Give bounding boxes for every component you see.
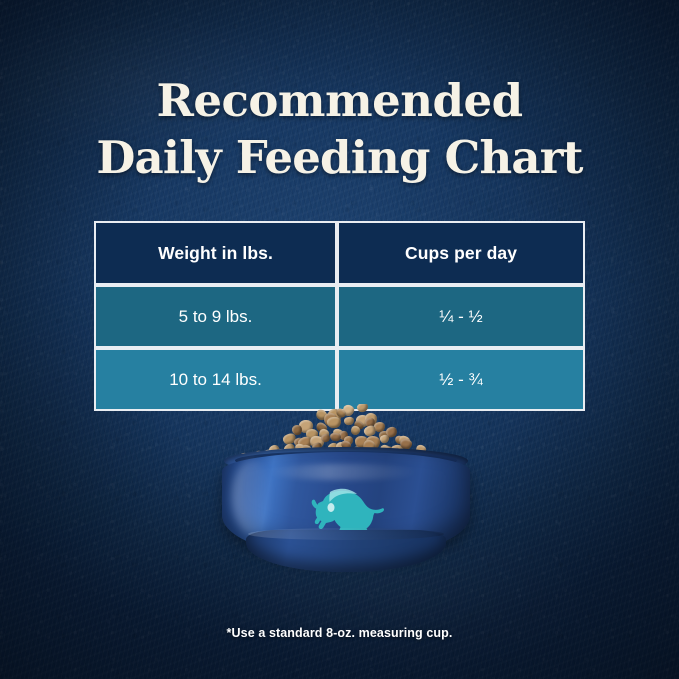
page-title-line-2: Daily Feeding Chart (0, 129, 679, 186)
column-header-weight: Weight in lbs. (94, 221, 337, 285)
kibble-piece (330, 433, 342, 443)
bowl (222, 452, 470, 572)
table-header-row: Weight in lbs. Cups per day (94, 221, 585, 285)
table-body: 5 to 9 lbs. ¼ - ½ 10 to 14 lbs. ½ - ¾ (94, 285, 585, 411)
bowl-highlight-top (268, 464, 418, 480)
feeding-chart-table: Weight in lbs. Cups per day 5 to 9 lbs. … (94, 221, 585, 411)
kibble-piece (379, 434, 390, 444)
page-title: Recommended Daily Feeding Chart (0, 72, 679, 186)
column-header-cups: Cups per day (337, 221, 585, 285)
table-row: 5 to 9 lbs. ¼ - ½ (94, 285, 585, 348)
table-row: 10 to 14 lbs. ½ - ¾ (94, 348, 585, 411)
table-header: Weight in lbs. Cups per day (94, 221, 585, 285)
cell-weight-2: 10 to 14 lbs. (94, 348, 337, 411)
footnote: *Use a standard 8-oz. measuring cup. (0, 626, 679, 640)
kibble-piece (356, 404, 369, 413)
kibble-piece (326, 417, 340, 429)
cell-cups-1: ¼ - ½ (337, 285, 585, 348)
cell-weight-1: 5 to 9 lbs. (94, 285, 337, 348)
page-title-line-1: Recommended (0, 72, 679, 129)
bowl-base-ring (248, 528, 444, 540)
dog-bowl-illustration (208, 404, 484, 589)
cell-cups-2: ½ - ¾ (337, 348, 585, 411)
feeding-chart-infographic: Recommended Daily Feeding Chart Weight i… (0, 0, 679, 679)
bowl-highlight-left (232, 460, 272, 534)
